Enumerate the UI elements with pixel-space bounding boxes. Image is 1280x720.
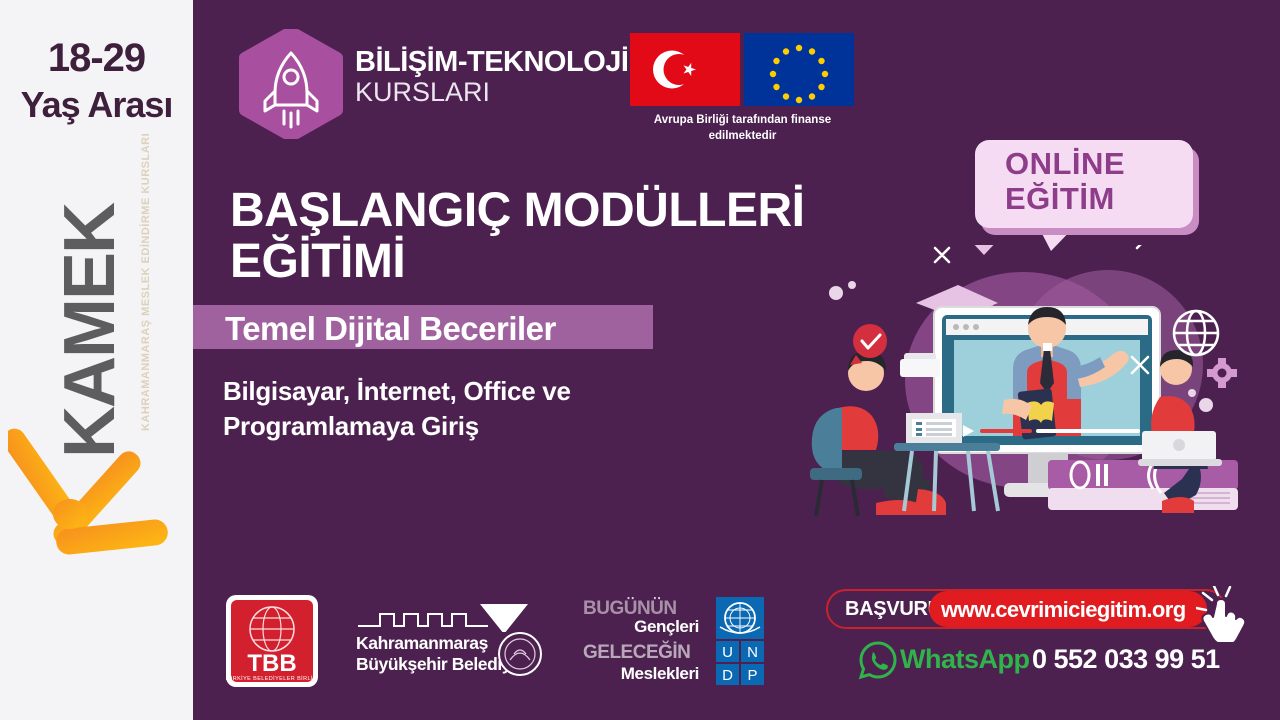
brand-line-2: KURSLARI	[355, 78, 628, 106]
kamek-figure-icon	[8, 418, 178, 563]
genclerin-meslekleri-logo: BUGÜNÜN Gençleri GELECEĞİN Meslekleri	[581, 596, 701, 686]
brand-line-1: BİLİŞİM-TEKNOLOJİ	[355, 48, 628, 78]
tbb-logo: TBB TÜRKİYE BELEDİYELER BİRLİĞİ	[226, 595, 318, 687]
kbb-seal-icon	[496, 630, 544, 678]
eu-flag	[744, 33, 854, 106]
age-range-line2: Yaş Arası	[0, 84, 193, 126]
eu-finance-note: Avrupa Birliği tarafından finanse edilme…	[630, 113, 855, 144]
svg-text:N: N	[747, 644, 758, 661]
online-education-badge: ONLİNE EĞİTİM	[975, 140, 1200, 245]
poster-root: 18-29 Yaş Arası KAMEK KAHRAMANMARAŞ MESL…	[0, 0, 1280, 720]
flags-block: Avrupa Birliği tarafından finanse edilme…	[630, 33, 855, 144]
bubble-line-2: EĞİTİM	[1005, 181, 1115, 217]
undp-logo: U N D P	[716, 597, 764, 685]
whatsapp-label: WhatsApp	[900, 644, 1029, 675]
svg-text:D: D	[722, 667, 733, 684]
whatsapp-phone[interactable]: 0 552 033 99 51	[1032, 644, 1220, 675]
svg-text:P: P	[747, 667, 757, 684]
turkish-flag	[630, 33, 740, 106]
svg-text:Meslekleri: Meslekleri	[621, 664, 699, 683]
online-education-illustration	[808, 245, 1280, 580]
bubble-line-1: ONLİNE	[1005, 146, 1125, 182]
svg-text:U: U	[722, 644, 733, 661]
svg-text:GELECEĞİN: GELECEĞİN	[583, 641, 690, 663]
svg-text:Gençleri: Gençleri	[634, 617, 699, 636]
description-text: Bilgisayar, İnternet, Office ve Programl…	[223, 374, 653, 444]
click-cursor-icon	[1196, 586, 1254, 642]
rocket-icon	[237, 29, 345, 139]
svg-text:TBB: TBB	[247, 650, 296, 677]
brand-text: BİLİŞİM-TEKNOLOJİ KURSLARI	[355, 48, 628, 106]
kahramanmaras-belediyesi-logo: Kahramanmaraş Büyükşehir Belediyesi	[356, 600, 536, 680]
apply-label: BAŞVURU	[845, 598, 942, 621]
left-sidebar: 18-29 Yaş Arası KAMEK KAHRAMANMARAŞ MESL…	[0, 0, 193, 720]
whatsapp-icon[interactable]	[858, 640, 898, 680]
age-range-line1: 18-29	[0, 36, 193, 81]
subtitle-text: Temel Dijital Beceriler	[225, 310, 556, 348]
website-url[interactable]: www.cevrimiciegitim.org	[941, 597, 1186, 623]
kbb-wave-icon	[356, 600, 536, 632]
kamek-subtitle: KAHRAMANMARAŞ MESLEK EDİNDİRME KURSLARI	[140, 181, 152, 431]
svg-text:TÜRKİYE BELEDİYELER BİRLİĞİ: TÜRKİYE BELEDİYELER BİRLİĞİ	[226, 675, 318, 682]
